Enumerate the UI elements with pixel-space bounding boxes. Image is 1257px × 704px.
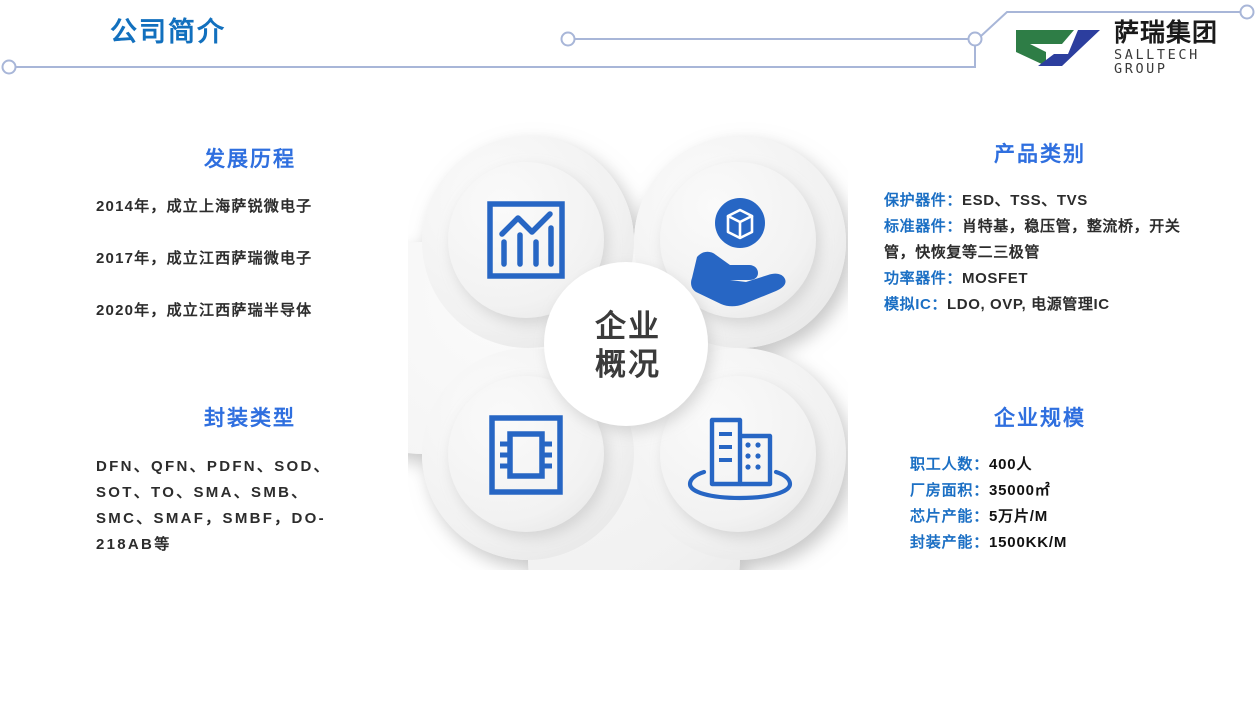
header-node-junction: [969, 33, 982, 46]
product-label: 标准器件：: [884, 218, 962, 235]
header-node-middle: [562, 33, 575, 46]
brand-logo: 萨瑞集团 SALLTECH GROUP: [1012, 22, 1248, 74]
section-scale-title: 企业规模: [870, 402, 1210, 432]
scale-value: 400人: [989, 456, 1032, 473]
page-title: 公司简介: [110, 10, 226, 49]
history-item: 2020年，成立江西萨瑞半导体: [96, 299, 420, 320]
scale-value: 1500KK/M: [989, 534, 1067, 551]
product-label: 功率器件：: [884, 270, 962, 287]
scale-row: 厂房面积：35000㎡: [910, 478, 1210, 504]
scale-value: 35000㎡: [989, 482, 1051, 499]
product-value: ESD、TSS、TVS: [962, 192, 1088, 209]
product-value: MOSFET: [962, 270, 1028, 287]
section-history: 发展历程 2014年，成立上海萨锐微电子 2017年，成立江西萨瑞微电子 202…: [80, 143, 420, 351]
scale-label: 厂房面积：: [910, 482, 989, 499]
company-scale-list: 职工人数：400人 厂房面积：35000㎡ 芯片产能：5万片/M 封装产能：15…: [910, 452, 1210, 556]
scale-row: 职工人数：400人: [910, 452, 1210, 478]
logo-text-cn: 萨瑞集团: [1114, 20, 1248, 45]
product-value: LDO, OVP, 电源管理IC: [947, 296, 1110, 313]
section-package-types: 封装类型 DFN、QFN、PDFN、SOD、SOT、TO、SMA、SMB、SMC…: [80, 402, 420, 558]
product-category-row: 模拟IC：LDO, OVP, 电源管理IC: [884, 292, 1204, 318]
history-item: 2017年，成立江西萨瑞微电子: [96, 247, 420, 268]
company-overview-diagram: 企业 概况: [408, 122, 848, 570]
center-hub: [544, 262, 708, 426]
header-node-left: [3, 61, 16, 74]
section-company-scale: 企业规模 职工人数：400人 厂房面积：35000㎡ 芯片产能：5万片/M 封装…: [870, 402, 1210, 556]
logo-text-en: SALLTECH GROUP: [1114, 49, 1248, 76]
product-category-row: 功率器件：MOSFET: [884, 266, 1204, 292]
product-label: 模拟IC：: [884, 296, 947, 313]
scale-row: 封装产能：1500KK/M: [910, 530, 1210, 556]
scale-value: 5万片/M: [989, 508, 1048, 525]
product-label: 保护器件：: [884, 192, 962, 209]
product-category-row: 保护器件：ESD、TSS、TVS: [884, 188, 1204, 214]
history-item: 2014年，成立上海萨锐微电子: [96, 195, 420, 216]
package-type-list: DFN、QFN、PDFN、SOD、SOT、TO、SMA、SMB、SMC、SMAF…: [96, 454, 346, 558]
product-category-list: 保护器件：ESD、TSS、TVS 标准器件：肖特基，稳压管，整流桥，开关管，快恢…: [884, 188, 1204, 318]
section-history-title: 发展历程: [80, 143, 420, 173]
scale-row: 芯片产能：5万片/M: [910, 504, 1210, 530]
scale-label: 封装产能：: [910, 534, 989, 551]
scale-label: 职工人数：: [910, 456, 989, 473]
scale-label: 芯片产能：: [910, 508, 989, 525]
header-node-right: [1241, 6, 1254, 19]
section-product-categories: 产品类别 保护器件：ESD、TSS、TVS 标准器件：肖特基，稳压管，整流桥，开…: [870, 138, 1210, 318]
salltech-logo-icon: [1012, 24, 1104, 72]
section-product-title: 产品类别: [870, 138, 1210, 168]
section-package-title: 封装类型: [80, 402, 420, 432]
product-category-row: 标准器件：肖特基，稳压管，整流桥，开关管，快恢复等二三极管: [884, 214, 1204, 266]
